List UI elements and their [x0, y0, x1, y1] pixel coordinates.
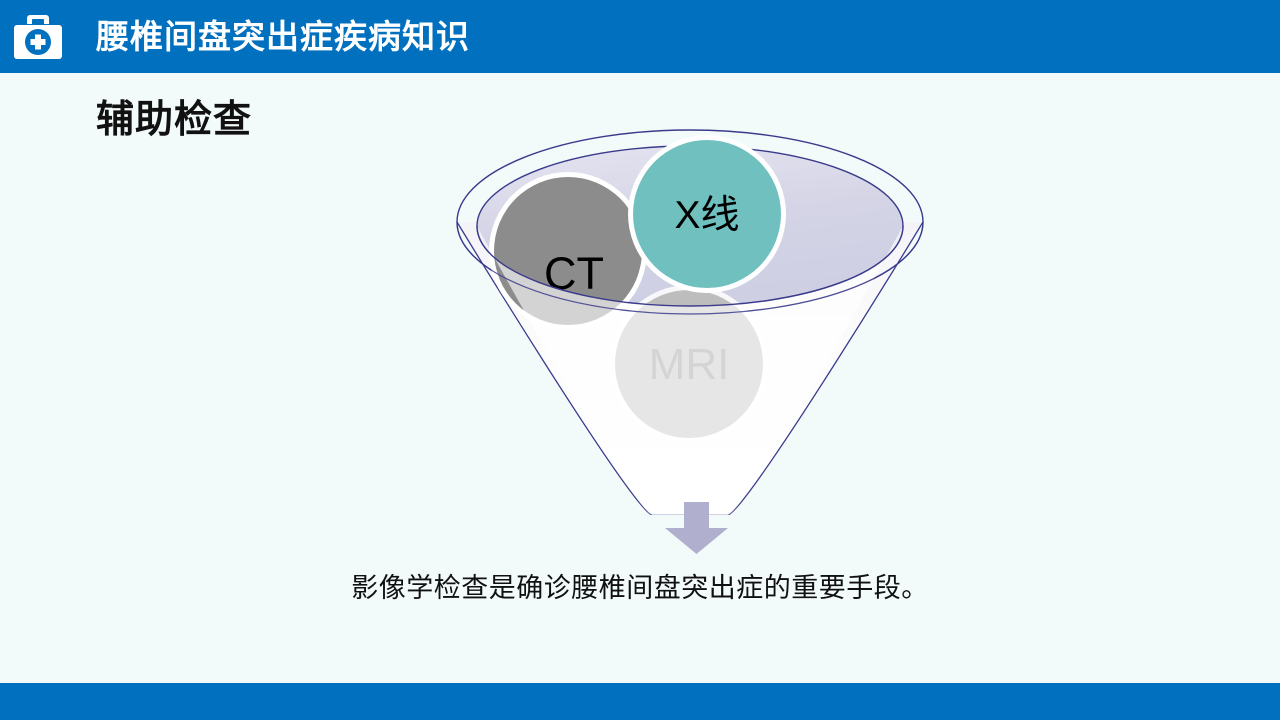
- medical-bag-icon: [10, 9, 66, 65]
- caption-text: 影像学检查是确诊腰椎间盘突出症的重要手段。: [0, 572, 1280, 604]
- bubble-mri-label: MRI: [649, 343, 730, 387]
- bubble-mri[interactable]: MRI: [615, 290, 763, 438]
- bubble-xray[interactable]: X线: [633, 140, 781, 288]
- funnel-diagram: CT MRI X线: [430, 95, 950, 515]
- header-bar: 腰椎间盘突出症疾病知识: [0, 0, 1280, 73]
- header-title: 腰椎间盘突出症疾病知识: [96, 20, 470, 53]
- footer-bar: [0, 683, 1280, 720]
- bubble-ct[interactable]: CT: [494, 177, 642, 325]
- bubble-xray-label: X线: [674, 196, 739, 235]
- down-arrow-icon: [664, 502, 729, 554]
- bubble-ct-label: CT: [544, 251, 604, 296]
- page-title: 辅助检查: [96, 98, 252, 144]
